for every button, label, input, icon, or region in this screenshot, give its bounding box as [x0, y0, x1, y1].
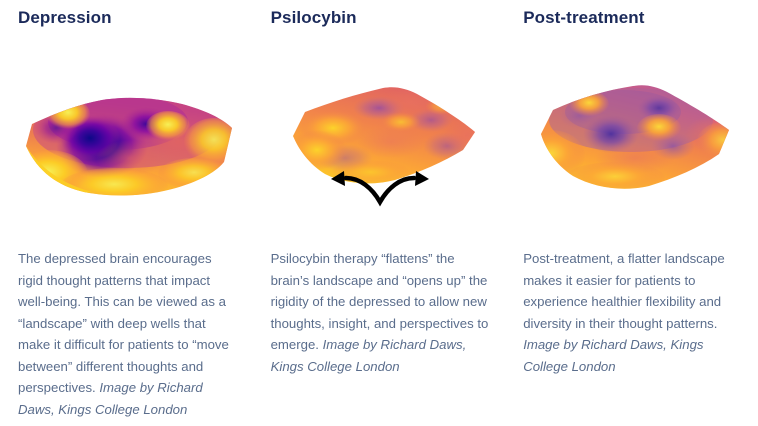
surface-features-post-treatment — [523, 88, 745, 194]
surface-features-depression — [18, 92, 240, 204]
caption-post-treatment: Post-treatment, a flatter landscape make… — [523, 248, 744, 377]
panel-columns: Depression — [0, 0, 758, 426]
opens-up-double-arrow-icon — [326, 162, 436, 210]
depression-landscape-surface — [18, 50, 240, 210]
brain-landscape-figure: Depression — [0, 0, 758, 426]
page-title-psilocybin: Psilocybin — [271, 8, 492, 30]
caption-body-post-treatment: Post-treatment, a flatter landscape make… — [523, 251, 725, 331]
caption-depression: The depressed brain encourages rigid tho… — [18, 248, 239, 420]
surface-container-post-treatment — [523, 50, 744, 230]
surface-container-depression — [18, 50, 239, 230]
surface-container-psilocybin — [271, 50, 492, 230]
caption-credit-post-treatment: Image by Richard Daws, Kings College Lon… — [523, 337, 703, 374]
page-title-post-treatment: Post-treatment — [523, 8, 744, 30]
caption-psilocybin: Psilocybin therapy “flattens” the brain’… — [271, 248, 492, 377]
page-title-depression: Depression — [18, 8, 239, 30]
panel-depression: Depression — [0, 0, 253, 426]
caption-body-depression: The depressed brain encourages rigid tho… — [18, 251, 229, 395]
post-treatment-landscape-surface — [523, 50, 745, 210]
panel-post-treatment: Post-treatment — [505, 0, 758, 426]
panel-psilocybin: Psilocybin — [253, 0, 506, 426]
